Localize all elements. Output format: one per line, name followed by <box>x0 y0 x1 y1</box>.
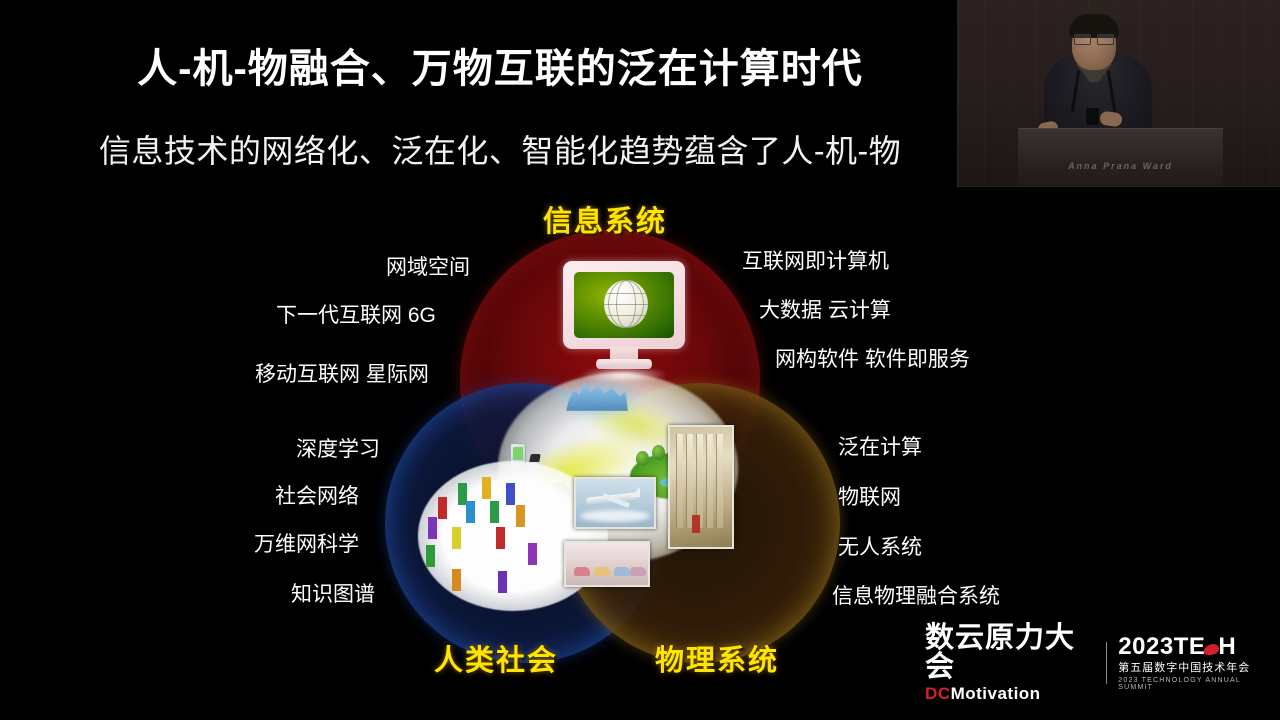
skyscraper-photo <box>668 425 734 549</box>
venn-label-physical-system: 物理系统 <box>655 637 779 679</box>
keyword-ubiquitous-computing: 泛在计算 <box>838 431 922 461</box>
vehicles-photo <box>564 541 650 587</box>
person-icon <box>506 483 515 505</box>
logo-year-prefix: 2023TE <box>1118 633 1205 660</box>
keyword-mobile-internet-interplanetary: 移动互联网 星际网 <box>255 358 429 388</box>
keyword-bigdata-cloud: 大数据 云计算 <box>759 294 891 324</box>
person-icon <box>426 545 435 567</box>
globe-icon <box>604 280 648 328</box>
person-icon <box>428 517 437 539</box>
glasses-icon <box>1074 34 1114 43</box>
keyword-web-science: 万维网科学 <box>254 528 359 558</box>
logo-brand-cn: 数云原力大会 <box>925 624 1095 682</box>
computer-monitor-illustration <box>563 261 685 359</box>
logo-brand-en: DCMotivation <box>925 685 1095 702</box>
logo-event: 2023TEH 第五届数字中国技术年会 2023 TECHNOLOGY ANNU… <box>1118 635 1270 691</box>
logo-year-suffix: H <box>1218 633 1236 660</box>
logo-divider <box>1106 642 1107 684</box>
keyword-social-network: 社会网络 <box>275 480 359 510</box>
person-icon <box>490 501 499 523</box>
person-icon <box>438 497 447 519</box>
tree-icon <box>652 445 665 460</box>
monitor-screen <box>574 272 674 338</box>
person-icon <box>496 527 505 549</box>
keyword-deep-learning: 深度学习 <box>296 433 380 463</box>
logo-event-subtitle-en: 2023 TECHNOLOGY ANNUAL SUMMIT <box>1118 677 1270 691</box>
person-icon <box>482 477 491 499</box>
page-subtitle: 信息技术的网络化、泛在化、智能化趋势蕴含了人-机-物 <box>0 126 1000 172</box>
keyword-internet-of-things: 物联网 <box>838 481 901 511</box>
slide-stage: 人-机-物融合、万物互联的泛在计算时代 信息技术的网络化、泛在化、智能化趋势蕴含… <box>0 0 1280 720</box>
keyword-internet-as-computer: 互联网即计算机 <box>742 245 889 275</box>
person-icon <box>516 505 525 527</box>
keyword-next-gen-internet-6g: 下一代互联网 6G <box>276 299 436 329</box>
logo-brand: 数云原力大会 DCMotivation <box>925 624 1095 702</box>
keyword-cyberspace: 网域空间 <box>386 251 470 281</box>
monitor-glow <box>581 367 667 383</box>
page-title: 人-机-物融合、万物互联的泛在计算时代 <box>0 36 1000 94</box>
keyword-unmanned-systems: 无人系统 <box>838 531 922 561</box>
logo-event-subtitle-cn: 第五届数字中国技术年会 <box>1118 663 1270 674</box>
keyword-internetware-saas: 网构软件 软件即服务 <box>775 343 970 373</box>
keyword-knowledge-graph: 知识图谱 <box>291 578 375 608</box>
person-icon <box>528 543 537 565</box>
speaker-badge <box>1086 108 1099 125</box>
airplane-photo <box>574 477 656 529</box>
person-icon <box>498 571 507 593</box>
conference-logo: 数云原力大会 DCMotivation 2023TEH 第五届数字中国技术年会 … <box>925 632 1270 694</box>
keyword-cyber-physical-systems: 信息物理融合系统 <box>832 580 1000 610</box>
tree-icon <box>636 451 649 466</box>
person-icon <box>452 569 461 591</box>
podium: Anna Prana Ward <box>1018 128 1223 187</box>
logo-event-year: 2023TEH <box>1118 635 1270 659</box>
person-icon <box>452 527 461 549</box>
podium-caption: Anna Prana Ward <box>1018 161 1223 171</box>
logo-brand-en-dc: DC <box>925 684 951 703</box>
venn-label-information-system: 信息系统 <box>543 198 667 240</box>
speaker-video-overlay[interactable]: Anna Prana Ward <box>957 0 1280 187</box>
monitor-bezel <box>563 261 685 349</box>
venn-label-human-society: 人类社会 <box>434 637 558 679</box>
logo-brand-en-rest: Motivation <box>951 684 1041 703</box>
person-icon <box>466 501 475 523</box>
